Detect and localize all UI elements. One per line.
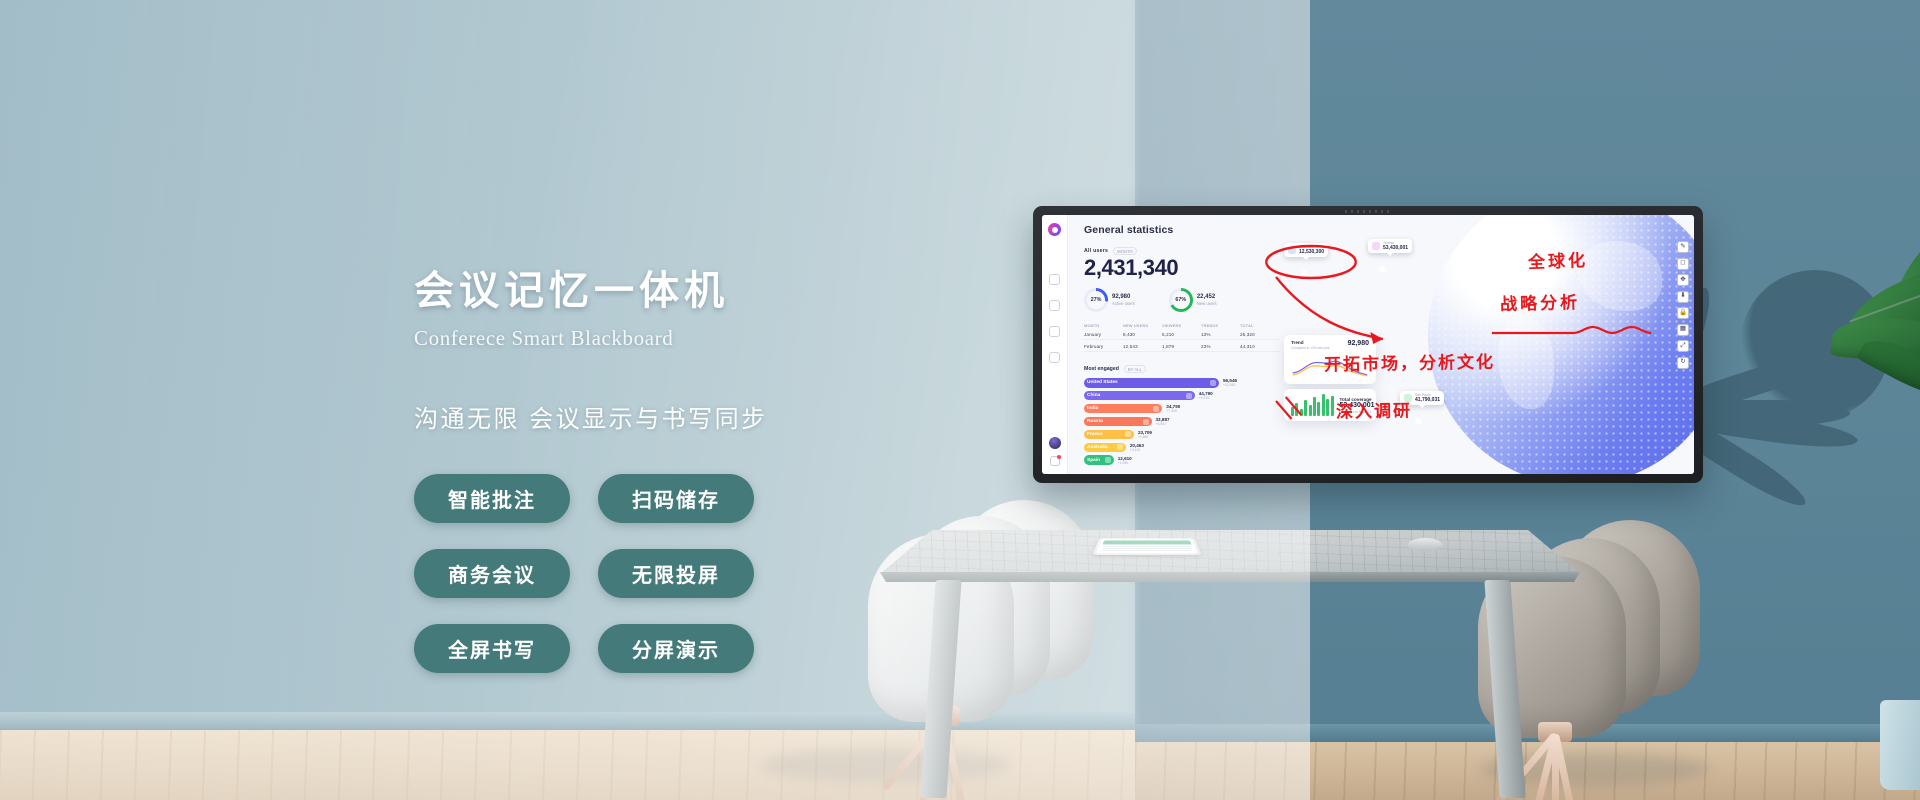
engaged-bar-row: India34,790+7,400 [1084, 404, 1284, 414]
engaged-bar-row: Australia20,463+3,110 [1084, 443, 1284, 453]
table-row: January 8,430 5,210 13% 25,320 [1084, 328, 1279, 340]
donut-chart: 27% [1084, 288, 1108, 312]
card-value: 53,430,001 [1340, 402, 1375, 409]
line-sparkline [1291, 353, 1369, 379]
display-camera-strip [1345, 210, 1391, 213]
engaged-country-label: China [1087, 393, 1100, 398]
engaged-bar[interactable]: United States [1084, 378, 1219, 388]
engaged-value-group: 23,709+4,882 [1138, 430, 1152, 439]
country-flag-icon [1105, 457, 1111, 463]
engaged-bar[interactable]: Russia [1084, 417, 1152, 427]
pill-smart-annotation[interactable]: 智能批注 [414, 474, 570, 523]
page-title: General statistics [1084, 224, 1284, 236]
kpi-header: All users MONTH [1084, 247, 1284, 255]
country-flag-icon [1210, 380, 1216, 386]
donut-active-users: 27% 92,980 Active users [1084, 288, 1135, 312]
engaged-country-label: Russia [1087, 419, 1103, 424]
country-flag-icon [1125, 431, 1131, 437]
country-flag-icon [1143, 419, 1149, 425]
pill-split-presentation[interactable]: 分屏演示 [598, 624, 754, 673]
kpi-label: All users [1084, 248, 1108, 254]
cell: 44,310 [1240, 340, 1279, 349]
donut-percent: 67% [1175, 297, 1186, 303]
donut-caption: Active users [1112, 301, 1135, 306]
tooltip-value: 53,430,001 [1383, 245, 1408, 251]
grid-icon[interactable]: ▦ [1677, 324, 1689, 336]
section-title: Most engaged [1084, 366, 1119, 372]
engaged-country-label: France [1087, 432, 1103, 437]
page-subtitle: Conferece Smart Blackboard [414, 326, 934, 351]
map-tooltip-sao-paulo[interactable]: São Paulo 41,790,031 [1400, 391, 1444, 405]
engaged-bar[interactable]: France [1084, 430, 1134, 440]
tooltip-swatch [1404, 394, 1412, 402]
sidebar-icon-settings[interactable] [1049, 352, 1060, 363]
shape-tool-icon[interactable]: ◻ [1677, 258, 1689, 270]
engaged-country-label: India [1087, 406, 1098, 411]
engaged-country-bars: United States56,546+12,030China44,790+9,… [1084, 378, 1284, 465]
fullscreen-icon[interactable]: ⤢ [1677, 340, 1689, 352]
engaged-delta: +1,930 [1118, 461, 1132, 465]
pill-unlimited-cast[interactable]: 无限投屏 [598, 549, 754, 598]
dashboard-sidebar[interactable] [1042, 215, 1068, 474]
donut-caption: New users [1197, 301, 1217, 306]
page-title: 会议记忆一体机 [414, 258, 934, 316]
engaged-bar-row: China44,790+9,215 [1084, 391, 1284, 401]
engaged-country-label: Spain [1087, 458, 1100, 463]
engaged-value-group: 33,887+6,001 [1156, 417, 1170, 426]
cell: 8,430 [1123, 328, 1162, 337]
kpi-total-users: 2,431,340 [1084, 256, 1284, 279]
engaged-delta: +9,215 [1199, 396, 1213, 400]
tablet-screen [1096, 539, 1198, 553]
engaged-delta: +3,110 [1130, 448, 1144, 452]
table-edge [880, 572, 1580, 582]
kpi-period-select[interactable]: MONTH [1113, 247, 1136, 255]
donut-value: 22,452 [1197, 294, 1217, 300]
conference-table [880, 530, 1580, 800]
dashboard-stats-panel: General statistics All users MONTH 2,431… [1084, 224, 1284, 468]
bar-sparkline [1291, 394, 1334, 416]
card-title: Trend [1291, 340, 1330, 345]
annotation-toolbar[interactable]: ✎◻✥⬇🔒▦⤢↻ [1677, 241, 1689, 369]
avatar[interactable] [1049, 437, 1061, 449]
pill-business-meeting[interactable]: 商务会议 [414, 549, 570, 598]
cell: 5,210 [1162, 328, 1201, 337]
cell: 1,879 [1162, 340, 1201, 349]
most-engaged-header: Most engaged BY ALL [1084, 365, 1284, 373]
engaged-bar-row: France23,709+4,882 [1084, 430, 1284, 440]
map-pin[interactable] [1380, 267, 1385, 272]
table-leg-right [1484, 580, 1525, 798]
engaged-value: 12,610 [1118, 456, 1132, 461]
pen-tool-icon[interactable]: ✎ [1677, 241, 1689, 253]
donut-percent: 27% [1091, 297, 1102, 303]
monthly-stats-table: MONTH NEW USERS VIEWERS TRENDS TOTAL Jan… [1084, 323, 1279, 352]
engaged-value-group: 34,790+7,400 [1166, 404, 1180, 413]
card-title: Total coverage [1340, 397, 1375, 402]
smart-blackboard-display[interactable]: Toronto 53,430,001 New York 12,530,300 S… [1033, 206, 1703, 483]
map-tooltip-new-york[interactable]: New York 12,530,300 [1284, 243, 1328, 257]
engaged-bar[interactable]: China [1084, 391, 1195, 401]
donut-value: 92,980 [1112, 294, 1135, 300]
engaged-delta: +12,030 [1223, 383, 1237, 387]
map-tooltip-toronto[interactable]: Toronto 53,430,001 [1368, 239, 1412, 253]
cell: 23% [1201, 340, 1240, 349]
table-row: February 12,543 1,879 23% 44,310 [1084, 340, 1279, 352]
engaged-value-group: 56,546+12,030 [1223, 378, 1237, 387]
engaged-value-group: 44,790+9,215 [1199, 391, 1213, 400]
engaged-filter-select[interactable]: BY ALL [1124, 365, 1146, 373]
country-flag-icon [1186, 393, 1192, 399]
engaged-bar-row: Spain12,610+1,930 [1084, 455, 1284, 465]
engaged-country-label: United States [1087, 380, 1118, 385]
sidebar-icon-database[interactable] [1049, 326, 1060, 337]
cell: 12,543 [1123, 340, 1162, 349]
cell: January [1084, 328, 1123, 337]
dashboard-main: Toronto 53,430,001 New York 12,530,300 S… [1068, 215, 1694, 474]
lock-icon[interactable]: 🔒 [1677, 307, 1689, 319]
download-icon[interactable]: ⬇ [1677, 291, 1689, 303]
table-tablet[interactable] [1092, 538, 1202, 555]
potted-plant [1838, 270, 1920, 500]
pill-scan-save[interactable]: 扫码储存 [598, 474, 754, 523]
tooltip-value: 12,530,300 [1299, 249, 1324, 255]
map-pin[interactable] [1302, 271, 1307, 276]
engaged-country-label: Australia [1087, 445, 1108, 450]
notification-bell-icon[interactable] [1050, 456, 1060, 466]
engaged-delta: +7,400 [1166, 409, 1180, 413]
engaged-bar-row: United States56,546+12,030 [1084, 378, 1284, 388]
move-tool-icon[interactable]: ✥ [1677, 274, 1689, 286]
cell: 13% [1201, 328, 1240, 337]
engaged-value-group: 20,463+3,110 [1130, 443, 1144, 452]
engaged-bar-row: Russia33,887+6,001 [1084, 417, 1284, 427]
cell: 25,320 [1240, 328, 1279, 337]
pill-fullscreen-writing[interactable]: 全屏书写 [414, 624, 570, 673]
conference-mic-puck[interactable] [1408, 538, 1442, 551]
engaged-delta: +6,001 [1156, 422, 1170, 426]
refresh-icon[interactable]: ↻ [1677, 357, 1689, 369]
hero-copy: 会议记忆一体机 Conferece Smart Blackboard 沟通无限 … [414, 258, 934, 673]
plant-pot [1880, 700, 1920, 790]
card-subtitle: Compared to 12% last year [1291, 346, 1330, 350]
engaged-value-group: 12,610+1,930 [1118, 456, 1132, 465]
display-screen[interactable]: Toronto 53,430,001 New York 12,530,300 S… [1042, 215, 1694, 474]
sidebar-icon-dashboard[interactable] [1049, 274, 1060, 285]
donut-chart: 67% [1169, 288, 1193, 312]
hero-tagline: 沟通无限 会议显示与书写同步 [414, 399, 934, 434]
country-flag-icon [1117, 444, 1123, 450]
tooltip-swatch [1372, 242, 1380, 250]
engaged-bar[interactable]: Australia [1084, 443, 1126, 453]
donut-new-users: 67% 22,452 New users [1169, 288, 1217, 312]
card-trend[interactable]: Trend Compared to 12% last year 92,980 [1284, 335, 1376, 384]
world-map-globe[interactable] [1428, 215, 1694, 474]
engaged-delta: +4,882 [1138, 435, 1152, 439]
engaged-bar[interactable]: India [1084, 404, 1162, 414]
table-top-texture [880, 530, 1580, 800]
card-total-coverage[interactable]: Total coverage 53,430,001 Compared to 8%… [1284, 389, 1376, 421]
engaged-bar[interactable]: Spain [1084, 455, 1114, 465]
feature-pill-grid: 智能批注扫码储存商务会议无限投屏全屏书写分屏演示 [414, 474, 934, 673]
conference-room-scene: Toronto 53,430,001 New York 12,530,300 S… [0, 0, 1920, 800]
card-value: 92,980 [1348, 340, 1369, 347]
app-logo-icon [1048, 223, 1061, 236]
cell: February [1084, 340, 1123, 349]
country-flag-icon [1153, 406, 1159, 412]
map-pin[interactable] [1416, 419, 1421, 424]
tooltip-swatch [1288, 246, 1296, 254]
tooltip-value: 41,790,031 [1415, 397, 1440, 403]
donut-stats: 27% 92,980 Active users 67% [1084, 288, 1284, 312]
card-subtitle: Compared to 8% 2021 [1340, 410, 1375, 414]
sidebar-icon-reports[interactable] [1049, 300, 1060, 311]
